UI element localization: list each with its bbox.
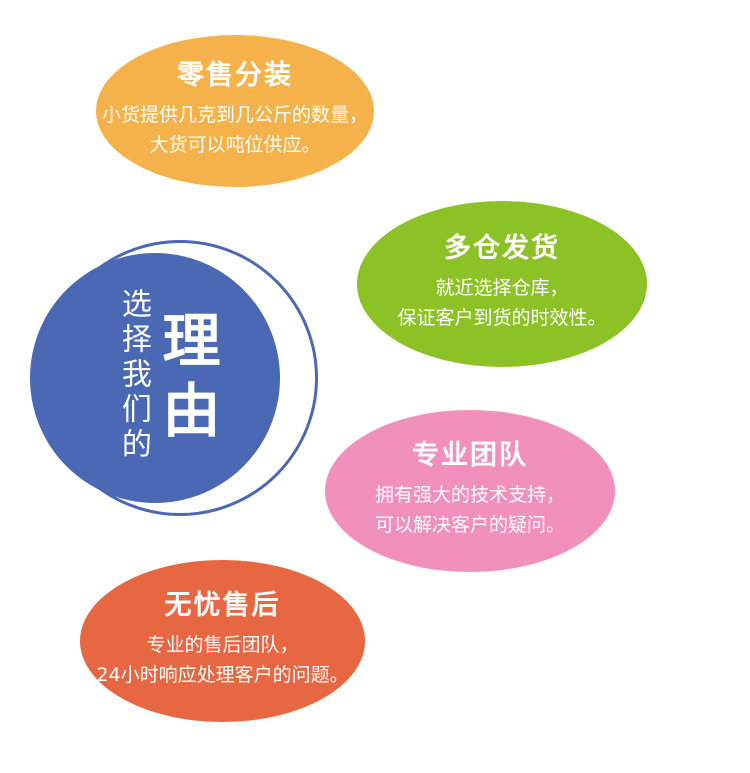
bubble-aftersale-line-1: 专业的售后团队， — [146, 630, 298, 661]
bubble-retail-title: 零售分装 — [177, 61, 293, 91]
bubble-aftersale-title: 无忧售后 — [165, 591, 281, 621]
bubble-retail-line-1: 小货提供几克到几公斤的数量， — [102, 100, 368, 131]
bubble-retail[interactable]: 零售分装 小货提供几克到几公斤的数量， 大货可以吨位供应。 — [96, 35, 374, 187]
bubble-team-line-2: 可以解决客户的疑问。 — [375, 510, 565, 541]
center-heading-secondary: 选择我们的 — [116, 288, 148, 463]
center-heading-primary: 理由 — [155, 310, 218, 450]
bubble-team-line-1: 拥有强大的技术支持， — [375, 480, 565, 511]
bubble-team[interactable]: 专业团队 拥有强大的技术支持， 可以解决客户的疑问。 — [325, 410, 615, 572]
bubble-warehouse-line-1: 就近选择仓库， — [435, 273, 568, 304]
bubble-team-title: 专业团队 — [412, 441, 528, 471]
bubble-warehouse[interactable]: 多仓发货 就近选择仓库， 保证客户到货的时效性。 — [357, 201, 647, 367]
bubble-aftersale[interactable]: 无忧售后 专业的售后团队， 24小时响应处理客户的问题。 — [80, 560, 365, 722]
bubble-aftersale-line-2: 24小时响应处理客户的问题。 — [96, 660, 348, 691]
center-circle-text: 理由 选择我们的 — [30, 253, 280, 503]
bubble-retail-line-2: 大货可以吨位供应。 — [149, 130, 320, 161]
center-circle[interactable]: 理由 选择我们的 — [0, 218, 340, 548]
bubble-warehouse-line-2: 保证客户到货的时效性。 — [397, 303, 606, 334]
bubble-warehouse-title: 多仓发货 — [444, 234, 560, 264]
reasons-infographic: 零售分装 小货提供几克到几公斤的数量， 大货可以吨位供应。 多仓发货 就近选择仓… — [0, 0, 750, 773]
